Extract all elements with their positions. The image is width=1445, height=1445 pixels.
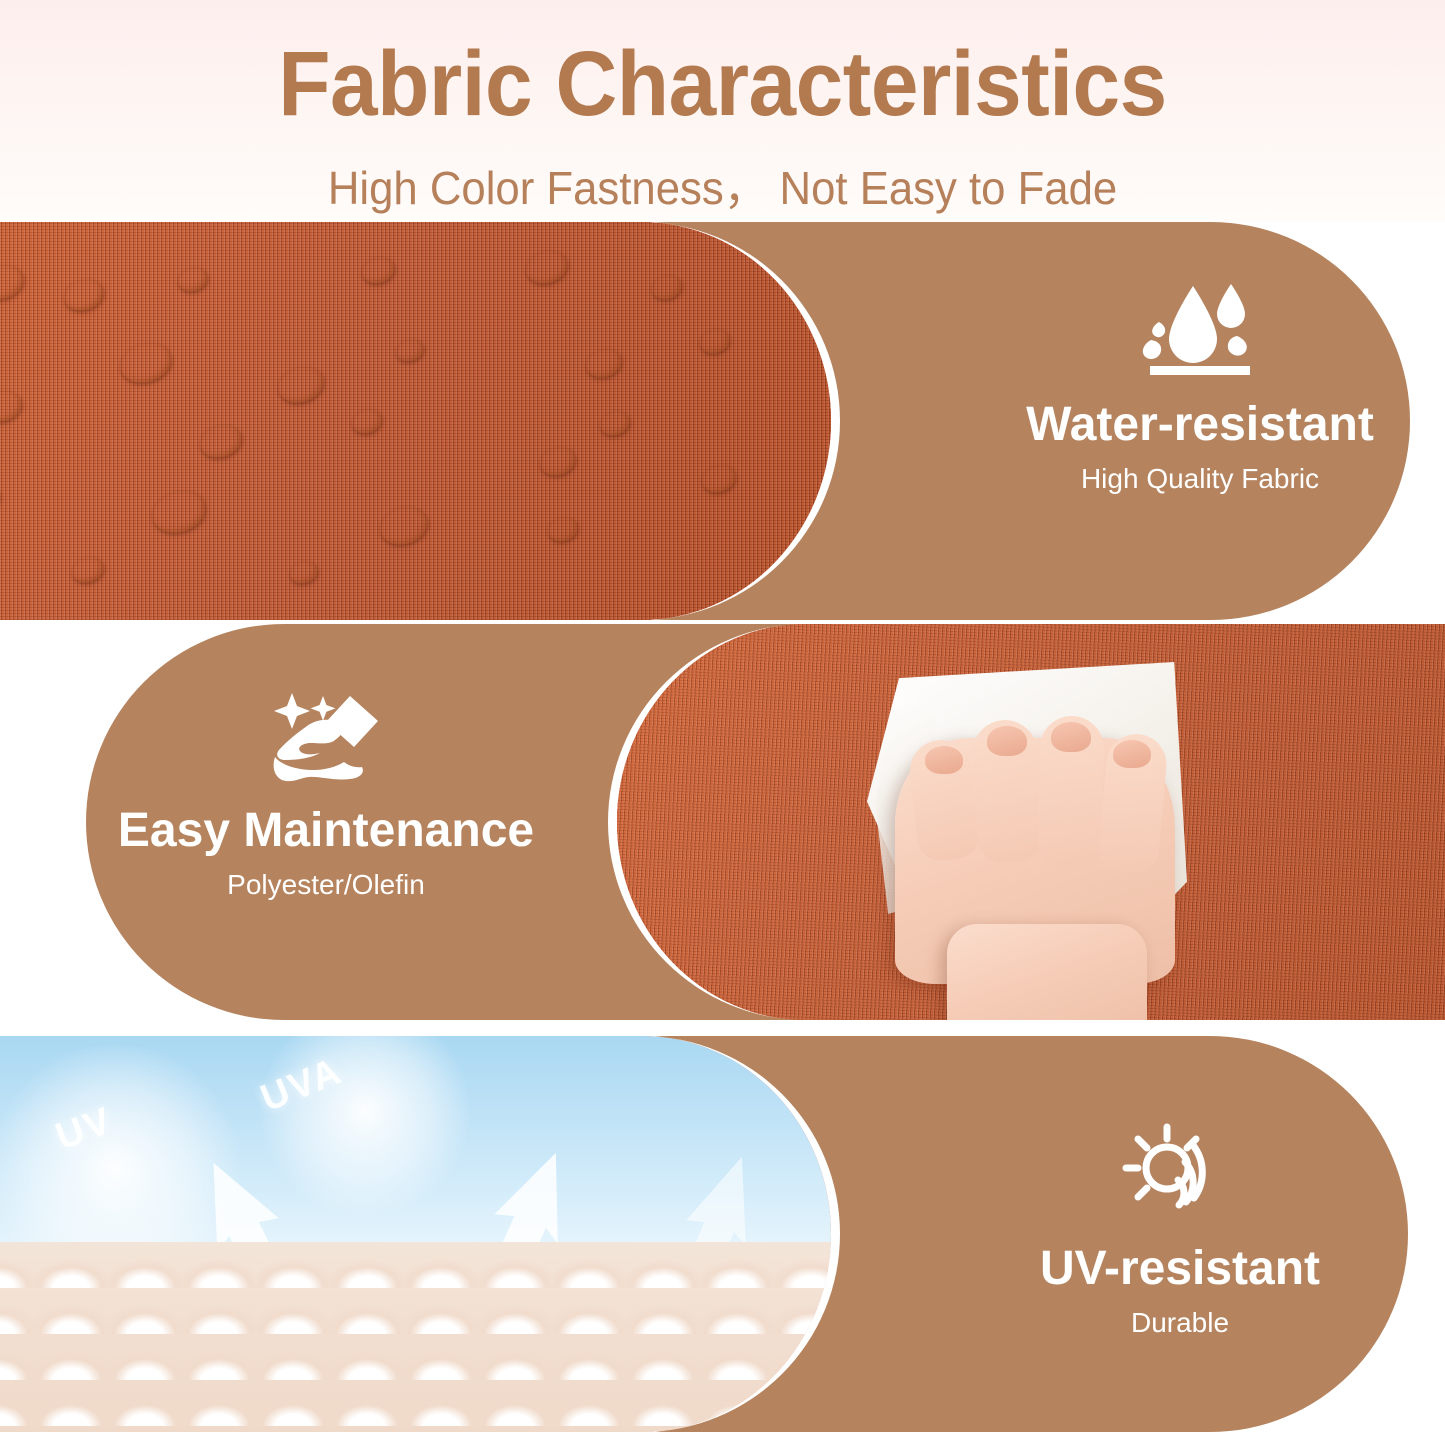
page-subtitle: High Color Fastness， Not Easy to Fade: [36, 152, 1409, 218]
sun-uv-rays-icon: [1115, 1122, 1245, 1226]
feature-easy-maintenance: Easy Maintenance Polyester/Olefin: [66, 684, 586, 901]
feature-title: Easy Maintenance: [66, 806, 586, 856]
header-banner: Fabric Characteristics High Color Fastne…: [0, 0, 1445, 222]
feature-subtitle: High Quality Fabric: [940, 463, 1445, 495]
cleaning-hand-cloth-icon: [261, 684, 391, 788]
wrist: [947, 924, 1147, 1020]
feature-row-water-resistant: Water-resistant High Quality Fabric: [0, 222, 1445, 620]
feature-water-resistant: Water-resistant High Quality Fabric: [940, 278, 1445, 495]
feature-row-easy-maintenance: Easy Maintenance Polyester/Olefin: [0, 624, 1445, 1020]
feature-subtitle: Durable: [920, 1307, 1440, 1339]
water-drop-icon: [1135, 278, 1265, 382]
feature-uv-resistant: UV-resistant Durable: [920, 1122, 1440, 1339]
feature-title: UV-resistant: [920, 1244, 1440, 1294]
photo-wiping-fabric: [608, 624, 1445, 1020]
fabric-texture: [617, 624, 1445, 1020]
sky-background: UV UVA: [0, 1036, 831, 1432]
photo-uv-sky-fabric: UV UVA: [0, 1036, 840, 1432]
fabric-texture: [0, 222, 831, 620]
fabric-characteristics-infographic: Fabric Characteristics High Color Fastne…: [0, 0, 1445, 1445]
photo-water-beads: [0, 222, 840, 620]
feature-title: Water-resistant: [940, 400, 1445, 450]
feature-row-uv-resistant: UV UVA: [0, 1036, 1445, 1432]
feature-subtitle: Polyester/Olefin: [66, 869, 586, 901]
fabric-knit-texture: [0, 1242, 831, 1432]
page-title: Fabric Characteristics: [51, 0, 1395, 130]
